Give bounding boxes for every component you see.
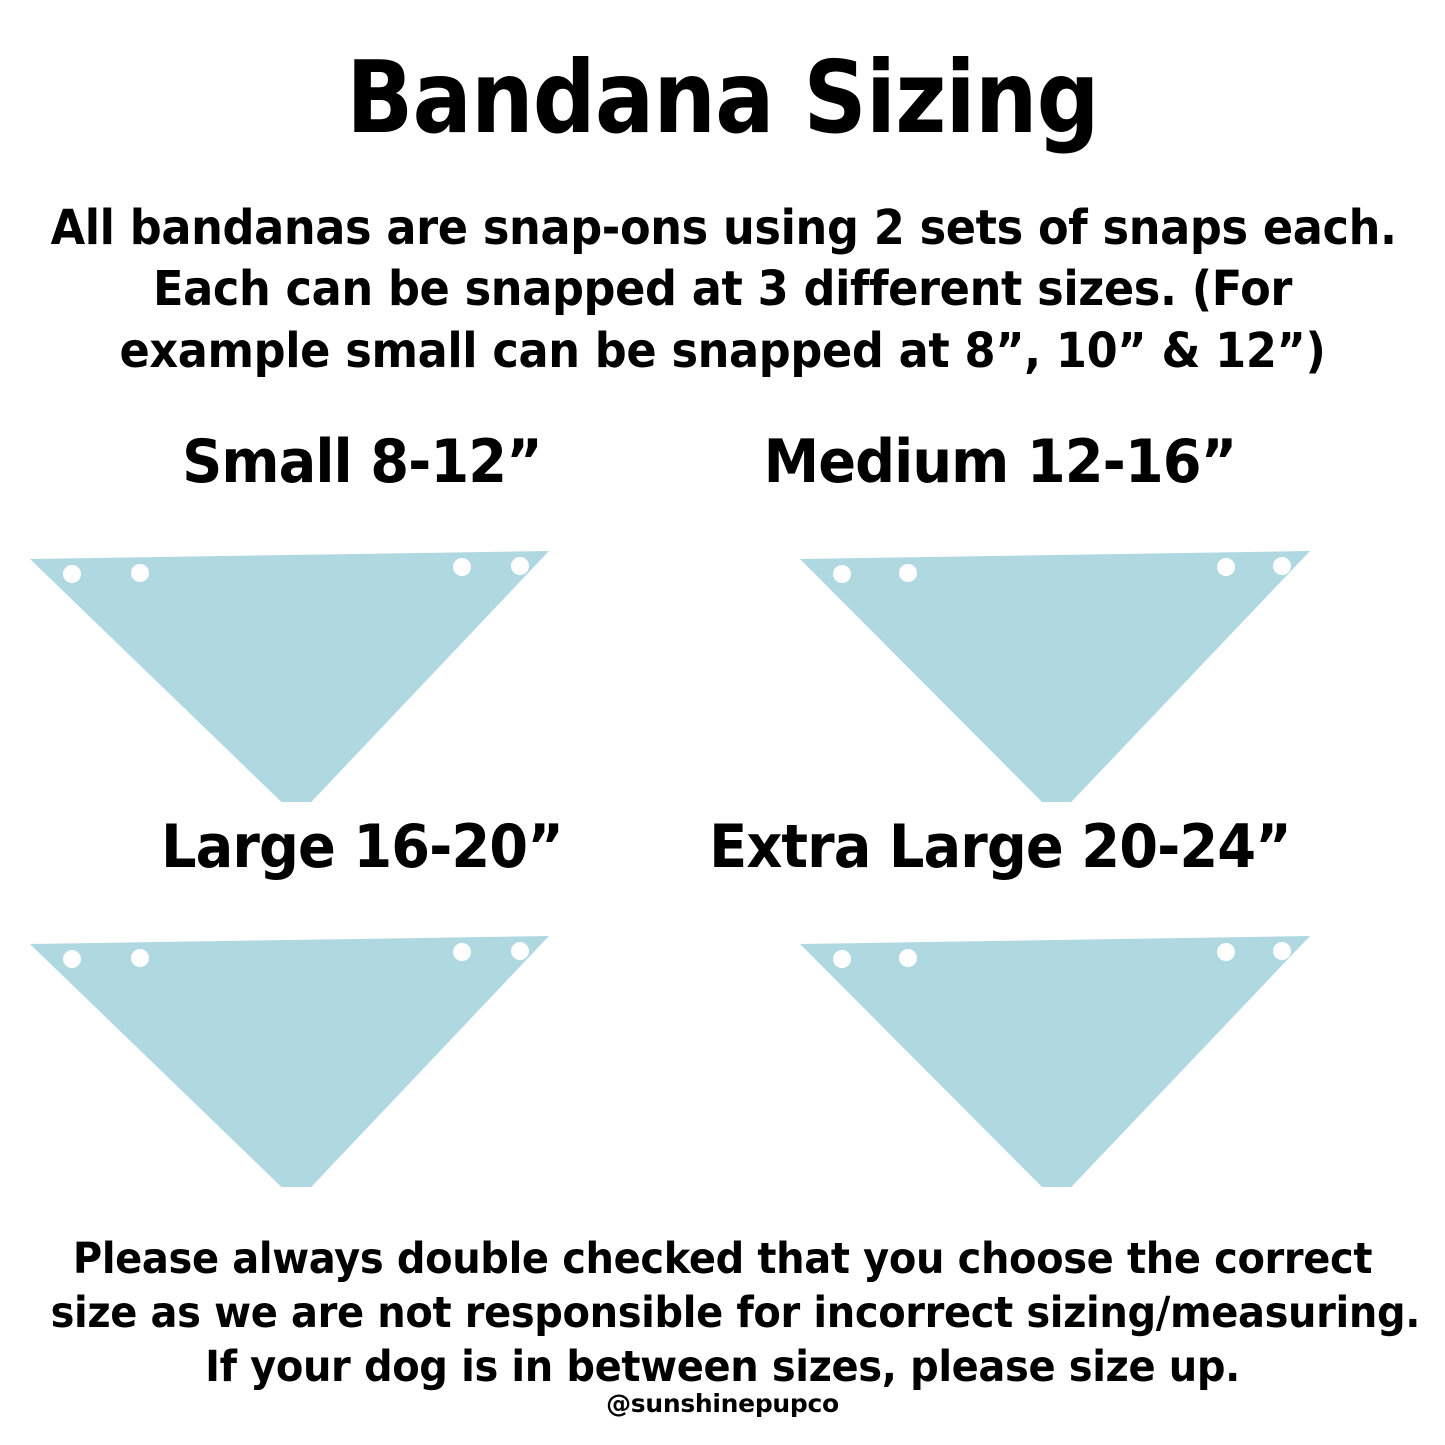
- bandana-shape-small: [12, 502, 712, 802]
- intro-line-2: Each can be snapped at 3 different sizes…: [51, 259, 1395, 320]
- intro-line-1: All bandanas are snap-ons using 2 sets o…: [51, 198, 1395, 259]
- page-title: Bandana Sizing: [87, 46, 1359, 150]
- size-cell-medium: Medium 12-16”: [650, 432, 1350, 822]
- disclaimer-line-2: size as we are not responsible for incor…: [51, 1286, 1395, 1340]
- bandana-sizing-infographic: Bandana Sizing All bandanas are snap-ons…: [0, 0, 1445, 1445]
- snap-hole-large-4: [511, 942, 529, 960]
- snap-hole-small-3: [453, 558, 471, 576]
- size-label-medium: Medium 12-16”: [675, 432, 1326, 492]
- bandana-triangle-xlarge: [800, 936, 1310, 1187]
- snap-hole-medium-1: [833, 565, 851, 583]
- intro-paragraph: All bandanas are snap-ons using 2 sets o…: [51, 198, 1395, 382]
- snap-hole-small-1: [63, 565, 81, 583]
- bandana-shape-medium: [650, 502, 1350, 802]
- size-cell-small: Small 8-12”: [12, 432, 712, 822]
- disclaimer-line-1: Please always double checked that you ch…: [51, 1232, 1395, 1286]
- snap-hole-large-2: [131, 949, 149, 967]
- brand-handle: @sunshinepupco: [0, 1389, 1445, 1418]
- intro-line-3: example small can be snapped at 8”, 10” …: [51, 321, 1395, 382]
- size-label-small: Small 8-12”: [37, 432, 688, 492]
- snap-hole-small-2: [131, 564, 149, 582]
- snap-hole-xlarge-4: [1273, 942, 1291, 960]
- snap-hole-small-4: [511, 557, 529, 575]
- snap-hole-medium-3: [1217, 558, 1235, 576]
- bandana-shape-xlarge: [650, 887, 1350, 1187]
- bandana-triangle-large: [30, 936, 549, 1187]
- disclaimer-line-3: If your dog is in between sizes, please …: [51, 1340, 1395, 1394]
- size-cell-xlarge: Extra Large 20-24”: [650, 817, 1350, 1207]
- size-label-large: Large 16-20”: [37, 817, 688, 877]
- disclaimer-text: Please always double checked that you ch…: [51, 1232, 1395, 1395]
- size-label-xlarge: Extra Large 20-24”: [675, 817, 1326, 877]
- bandana-triangle-medium: [800, 551, 1310, 802]
- bandana-triangle-small: [30, 551, 549, 802]
- snap-hole-xlarge-3: [1217, 943, 1235, 961]
- size-cell-large: Large 16-20”: [12, 817, 712, 1207]
- snap-hole-xlarge-1: [833, 950, 851, 968]
- bandana-shape-large: [12, 887, 712, 1187]
- snap-hole-xlarge-2: [899, 949, 917, 967]
- size-grid: Small 8-12” Medium 12-16”: [0, 432, 1445, 1212]
- snap-hole-medium-4: [1273, 557, 1291, 575]
- snap-hole-large-3: [453, 943, 471, 961]
- snap-hole-medium-2: [899, 564, 917, 582]
- snap-hole-large-1: [63, 950, 81, 968]
